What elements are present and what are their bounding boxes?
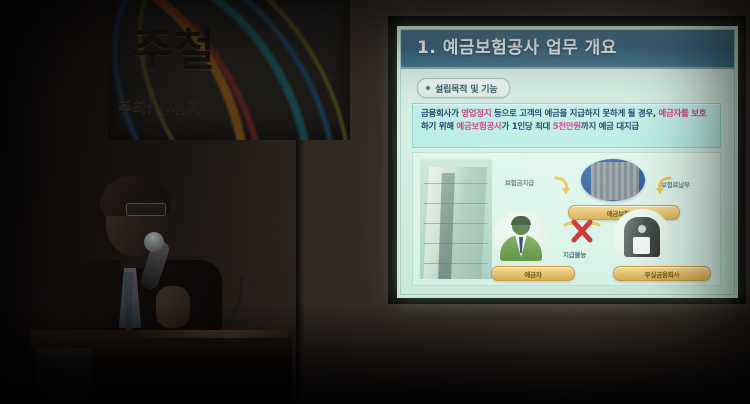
body-seg-4: 가 1인당 최대 (502, 122, 553, 132)
skyscraper-floor-line (424, 203, 488, 204)
curved-arrow-right-icon (651, 175, 673, 197)
skyscraper-photo (420, 159, 492, 279)
slide-diagram: 예금보험공사 보험금지급 보험료납부 예금 (412, 152, 721, 286)
bank-vault-icon (613, 209, 671, 263)
body-hl-1: 영업정지 (461, 109, 491, 119)
center-label: 지급불능 (563, 249, 586, 259)
building-oval-icon (581, 159, 645, 201)
section-badge-label: 설립목적 및 기능 (435, 82, 497, 95)
conference-room-photo: 주철 주최: (사)제 1. 예금보험공사 업무 개요 설립목적 및 기능 금융… (0, 0, 750, 404)
depositor-person-icon (493, 211, 549, 263)
body-hl-2: 예금자를 (658, 109, 688, 119)
skyscraper-floor-line (424, 223, 488, 224)
body-hl-5: 5천만원 (553, 122, 581, 132)
dot-icon (426, 86, 430, 90)
body-hl-3: 보호 (691, 109, 706, 119)
body-seg-3: 하기 위해 (421, 122, 456, 132)
left-node-label-pill: 예금자 (491, 266, 575, 281)
skyscraper-floor-line (424, 263, 488, 264)
skyscraper-floor-line (424, 183, 488, 184)
presentation-slide: 1. 예금보험공사 업무 개요 설립목적 및 기능 금융회사가 영업정지 등으로… (397, 26, 738, 298)
section-badge: 설립목적 및 기능 (417, 78, 510, 98)
floor-shadow (0, 304, 750, 404)
slide-title: 1. 예금보험공사 업무 개요 (417, 33, 617, 58)
slide-textbox: 금융회사가 영업정지 등으로 고객의 예금을 지급하지 못하게 될 경우, 예금… (412, 103, 721, 148)
red-x-icon (563, 215, 601, 245)
person-hair (511, 216, 531, 225)
skyscraper-floor-line (424, 243, 488, 244)
glasses-icon (126, 203, 166, 216)
body-seg-1: 금융회사가 (421, 109, 461, 119)
building-oval-photo (591, 162, 639, 200)
body-seg-5: 까지 예금 대지급 (581, 122, 639, 132)
banner-title: 주철 (132, 14, 217, 78)
body-seg-2: 등으로 고객의 예금을 지급하지 못하게 될 경우, (491, 109, 658, 119)
right-node-label: 부실금융회사 (645, 269, 680, 279)
curved-arrow-left-icon (553, 175, 575, 197)
left-node-label: 예금자 (524, 269, 541, 279)
left-arrow-label: 보험금지급 (505, 177, 534, 187)
projection-screen: 1. 예금보험공사 업무 개요 설립목적 및 기능 금융회사가 영업정지 등으로… (388, 16, 746, 304)
vault-door (633, 237, 650, 254)
banner-subtitle: 주최: (사)제 (118, 96, 202, 117)
slide-body-text: 금융회사가 영업정지 등으로 고객의 예금을 지급하지 못하게 될 경우, 예금… (413, 104, 720, 134)
right-node-label-pill: 부실금융회사 (613, 266, 711, 281)
body-hl-4: 예금보험공사 (456, 122, 501, 132)
vault-dial (638, 225, 646, 233)
